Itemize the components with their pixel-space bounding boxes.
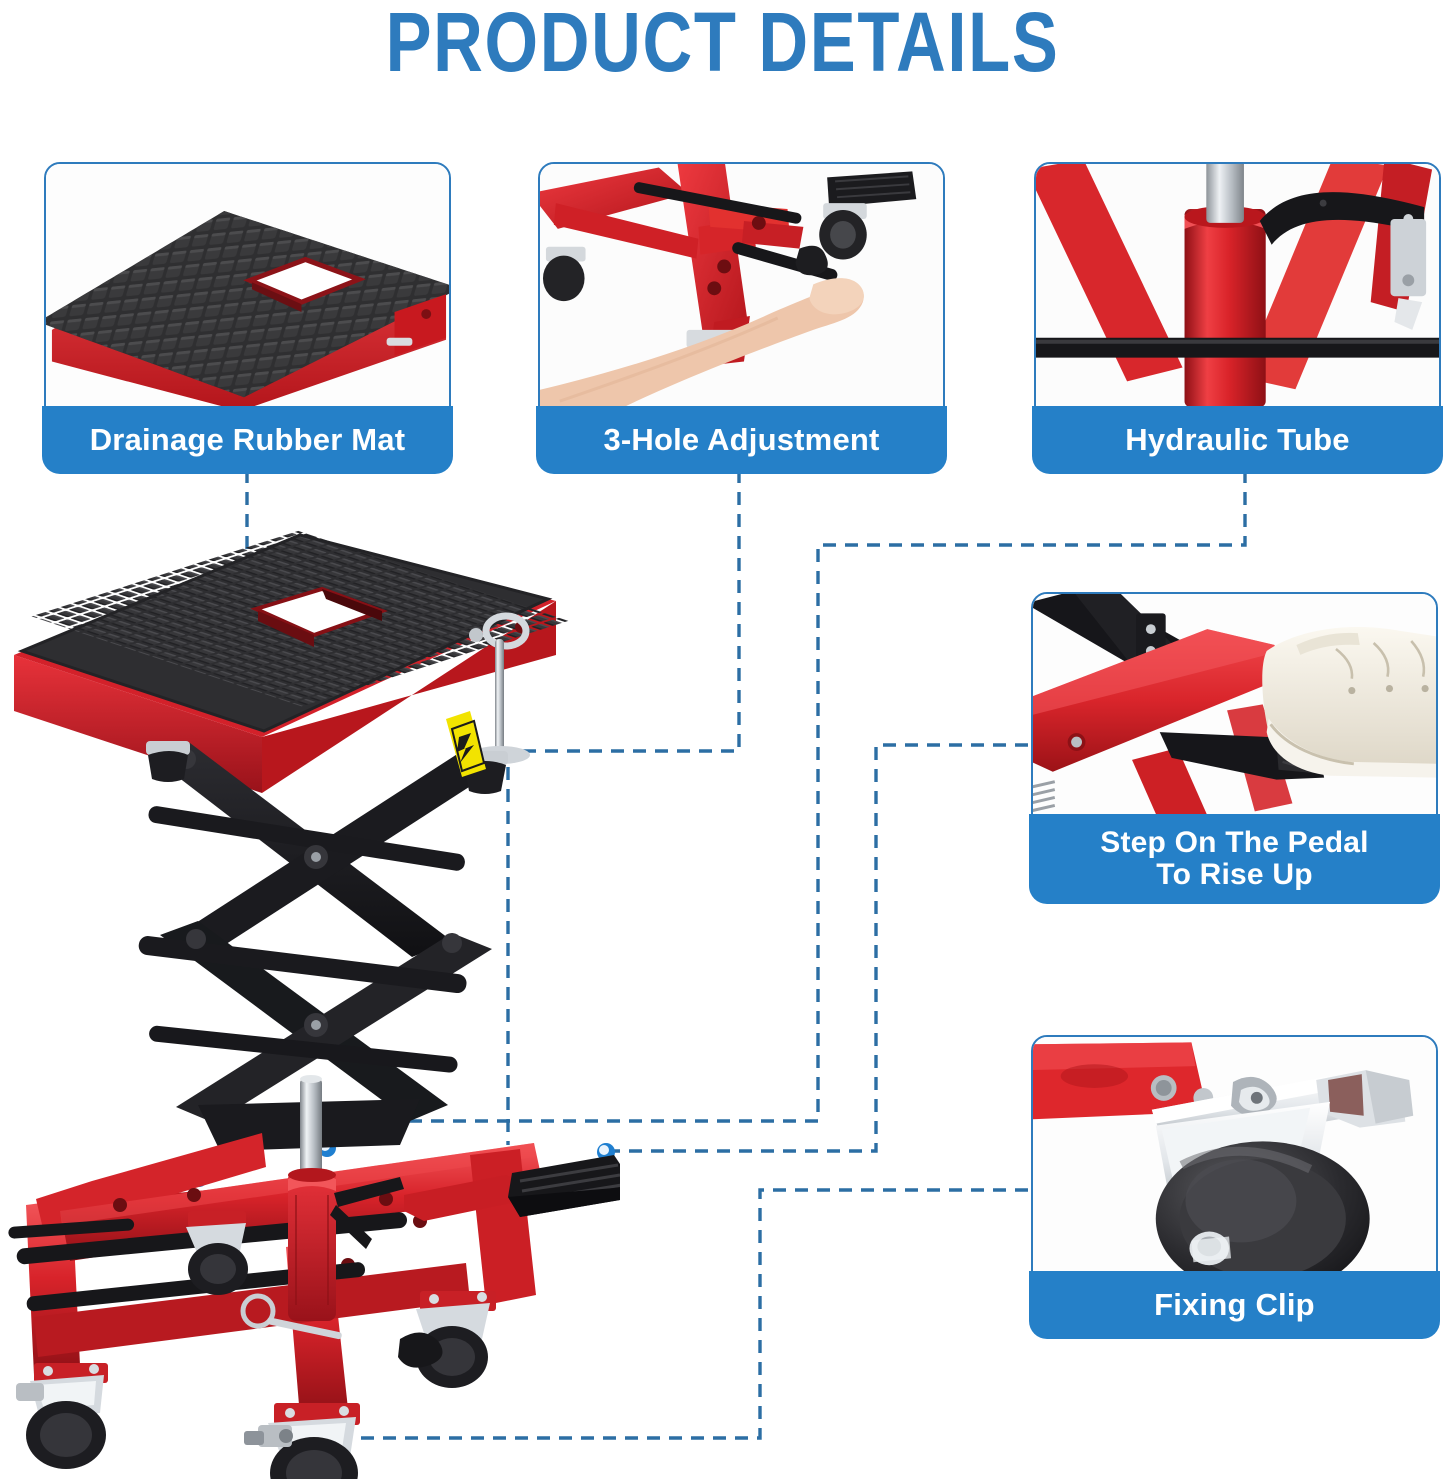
caster: [819, 203, 867, 259]
caster-front-centre: [244, 1403, 360, 1479]
callout-card-3-hole-adjustment[interactable]: 3-Hole Adjustment: [538, 162, 945, 470]
callout-card-step-on-the-pedal[interactable]: Step On The Pedal To Rise Up: [1031, 592, 1438, 900]
callout-card-drainage-rubber-mat[interactable]: Drainage Rubber Mat: [44, 162, 451, 470]
callout-card-fixing-clip[interactable]: Fixing Clip: [1031, 1035, 1438, 1335]
callout-label-line-2: To Rise Up: [1156, 858, 1312, 891]
callout-card-hydraulic-tube[interactable]: Hydraulic Tube: [1034, 162, 1441, 470]
product-image-hydraulic-scissor-lift: [0, 505, 620, 1479]
scissor-arms: [138, 711, 508, 1151]
callout-label-drainage-rubber-mat: Drainage Rubber Mat: [42, 406, 453, 474]
caster-front-left: [16, 1363, 108, 1469]
callout-label-hydraulic-tube: Hydraulic Tube: [1032, 406, 1443, 474]
callout-label-fixing-clip: Fixing Clip: [1029, 1271, 1440, 1339]
caster-rear-left: [186, 1211, 248, 1295]
callout-label-3-hole-adjustment: 3-Hole Adjustment: [536, 406, 947, 474]
callout-label-line-1: Step On The Pedal: [1100, 826, 1368, 859]
adjuster-knob-left: [146, 741, 190, 782]
page-title: PRODUCT DETAILS: [130, 0, 1315, 91]
wire-step-on-the-pedal: [608, 745, 1028, 1151]
fixing-clip-front: [244, 1425, 293, 1447]
callout-label-step-on-the-pedal: Step On The Pedal To Rise Up: [1029, 814, 1440, 904]
